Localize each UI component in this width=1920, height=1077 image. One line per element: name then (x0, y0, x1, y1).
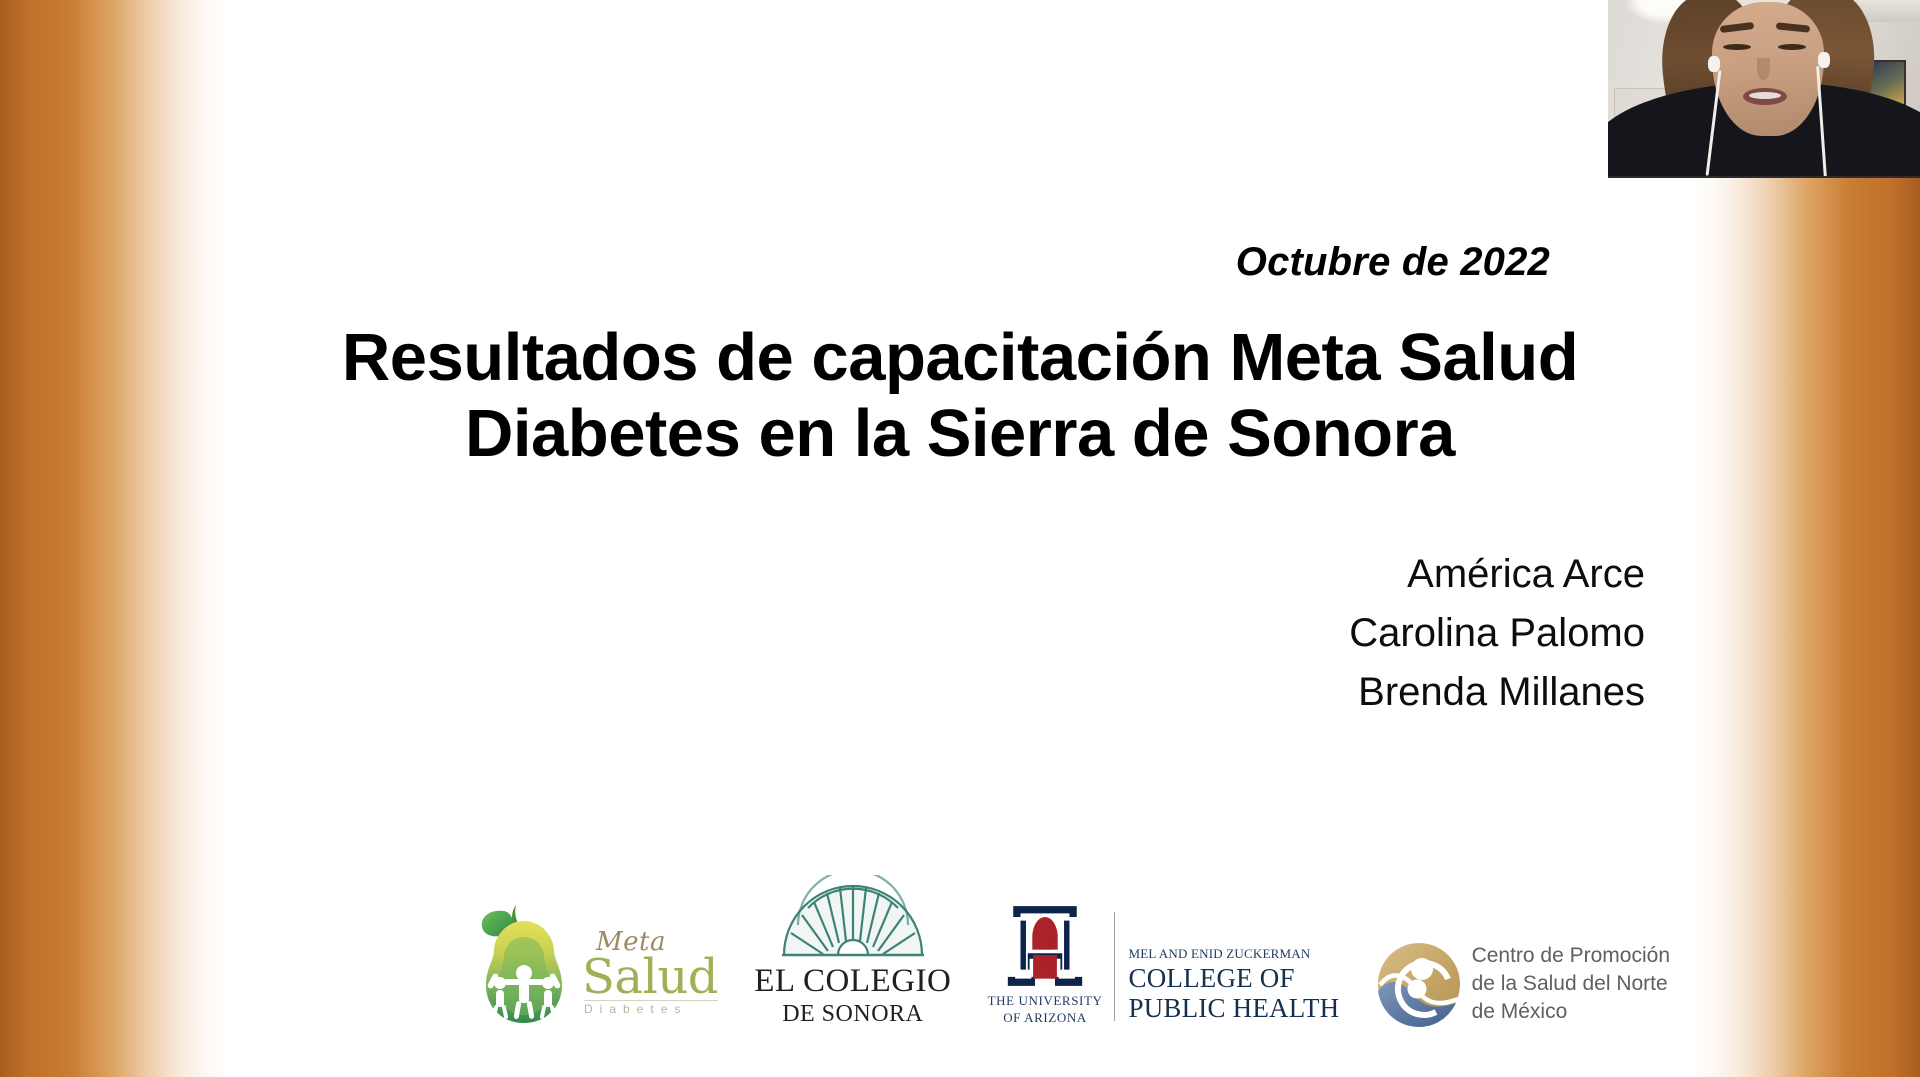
meta-salud-text-diabetes: Diabetes (584, 1000, 718, 1015)
presenter-eye-right (1778, 44, 1806, 50)
centro-wordmark: Centro de Promoción de la Salud del Nort… (1472, 942, 1670, 1025)
logo-university-of-arizona-cph: THE UNIVERSITY OF ARIZONA MEL AND ENID Z… (988, 904, 1340, 1027)
college-of-public-health-text: MEL AND ENID ZUCKERMAN COLLEGE OF PUBLIC… (1115, 904, 1339, 1027)
arizona-block-a-group: THE UNIVERSITY OF ARIZONA (988, 904, 1115, 1027)
arizona-university-line-2: OF ARIZONA (988, 1009, 1103, 1027)
author-name: América Arce (0, 545, 1645, 604)
logo-meta-salud-diabetes: Meta Salud Diabetes (470, 895, 718, 1027)
meta-salud-wordmark: Meta Salud Diabetes (582, 907, 718, 1016)
partner-logo-strip: Meta Salud Diabetes (470, 877, 1670, 1027)
slide-date: Octubre de 2022 (0, 240, 1920, 285)
presenter-eye-left (1723, 44, 1751, 50)
logo-el-colegio-de-sonora: EL COLEGIO DE SONORA (754, 875, 951, 1027)
zuckerman-line: MEL AND ENID ZUCKERMAN (1128, 946, 1339, 963)
meta-salud-text-salud: Salud (582, 955, 718, 1001)
el-colegio-fan-icon (778, 875, 928, 962)
slide-title-line-1: Resultados de capacitación Meta Salud (220, 320, 1700, 396)
slide-title-line-2: Diabetes en la Sierra de Sonora (220, 396, 1700, 472)
arizona-university-line-1: THE UNIVERSITY (988, 992, 1103, 1010)
el-colegio-line-2: DE SONORA (782, 1001, 923, 1027)
centro-circle-icon (1376, 941, 1462, 1027)
presenter-nose (1757, 58, 1770, 80)
meta-salud-pear-icon (470, 895, 578, 1027)
centro-line-1: Centro de Promoción (1472, 942, 1670, 970)
presenter-earbud-right (1818, 52, 1830, 68)
slide-left-accent-band (0, 0, 230, 1077)
author-list: América Arce Carolina Palomo Brenda Mill… (0, 545, 1920, 723)
college-of-line: COLLEGE OF (1128, 963, 1339, 993)
centro-line-2: de la Salud del Norte (1472, 970, 1670, 998)
author-name: Carolina Palomo (0, 604, 1645, 663)
presenter-video-thumbnail[interactable]: Presenter video thumbnail (1608, 0, 1920, 178)
video-wall-molding (1858, 0, 1920, 22)
slide-title: Resultados de capacitación Meta Salud Di… (220, 320, 1700, 473)
presentation-screen-share: Octubre de 2022 Resultados de capacitaci… (0, 0, 1920, 1077)
arizona-university-text: THE UNIVERSITY OF ARIZONA (988, 992, 1103, 1027)
centro-line-3: de México (1472, 998, 1670, 1026)
author-name: Brenda Millanes (0, 663, 1645, 722)
presenter-teeth (1749, 92, 1781, 99)
logo-centro-de-promocion-salud: Centro de Promoción de la Salud del Nort… (1376, 941, 1670, 1027)
public-health-line: PUBLIC HEALTH (1128, 993, 1339, 1023)
el-colegio-line-1: EL COLEGIO (754, 964, 951, 999)
arizona-block-a-icon (1006, 904, 1084, 988)
